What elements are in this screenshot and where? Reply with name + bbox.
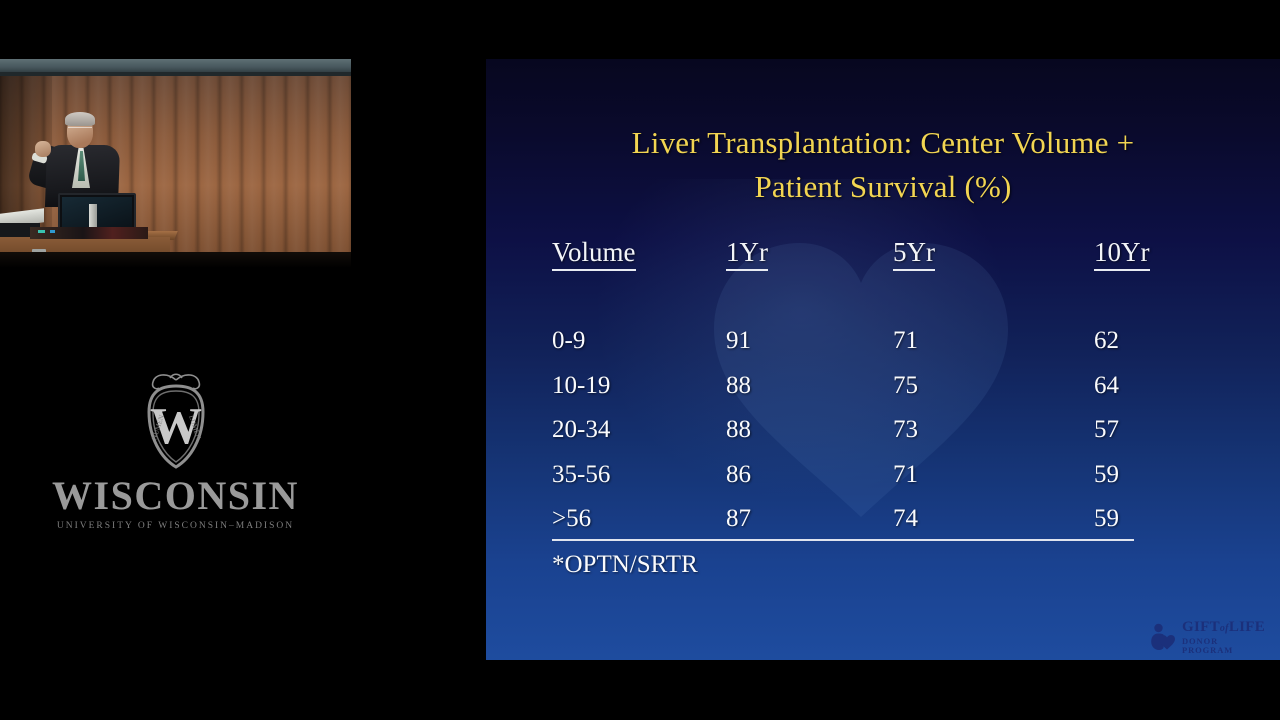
gift-of-life-logo: GIFTofLIFE DONOR PROGRAM: [1148, 619, 1270, 655]
cell-1yr: 88: [726, 416, 893, 444]
slide-canvas: Liver Transplantation: Center Volume + P…: [486, 59, 1280, 660]
cell-5yr: 74: [893, 505, 1094, 533]
table-row: >56 87 74 59: [552, 505, 1212, 550]
equipment-led-green: [38, 230, 45, 233]
gol-word-life: LIFE: [1229, 619, 1265, 635]
floor-shadow: [0, 252, 351, 268]
column-header-volume-label: Volume: [552, 237, 636, 271]
table-row: 0-9 91 71 62: [552, 327, 1212, 372]
cell-10yr: 59: [1094, 461, 1212, 489]
gift-of-life-line-1: GIFTofLIFE: [1182, 620, 1270, 635]
slide-title: Liver Transplantation: Center Volume + P…: [486, 121, 1280, 210]
column-header-10yr-label: 10Yr: [1094, 237, 1150, 271]
gol-word-gift: GIFT: [1182, 619, 1220, 635]
table-body: 0-9 91 71 62 10-19 88 75 64 20-34 88 73 …: [552, 327, 1212, 550]
cell-1yr: 86: [726, 461, 893, 489]
cell-1yr: 88: [726, 372, 893, 400]
cell-10yr: 57: [1094, 416, 1212, 444]
column-header-1yr: 1Yr: [726, 237, 893, 268]
podium-equipment: [30, 227, 148, 239]
wisconsin-subtitle: UNIVERSITY OF WISCONSIN–MADISON: [57, 521, 294, 531]
cell-volume: 20-34: [552, 416, 726, 444]
table-row: 10-19 88 75 64: [552, 372, 1212, 417]
ceiling-band: [0, 59, 351, 73]
gol-word-of: of: [1220, 623, 1229, 634]
cell-10yr: 62: [1094, 327, 1212, 355]
column-header-volume: Volume: [552, 237, 726, 268]
presentation-viewer: W NUMEN LUMEN WISCONSIN UNIVERSITY OF WI…: [0, 0, 1280, 720]
cell-1yr: 87: [726, 505, 893, 533]
column-header-10yr: 10Yr: [1094, 237, 1212, 268]
cell-volume: >56: [552, 505, 726, 533]
table-header-row: Volume 1Yr 5Yr 10Yr: [552, 237, 1212, 268]
table-row: 35-56 86 71 59: [552, 461, 1212, 506]
ceiling-lip: [0, 72, 351, 76]
column-header-1yr-label: 1Yr: [726, 237, 768, 271]
table-row: 20-34 88 73 57: [552, 416, 1212, 461]
cell-1yr: 91: [726, 327, 893, 355]
gift-of-life-figure-heart-icon: [1148, 622, 1178, 652]
gift-of-life-line-2: DONOR PROGRAM: [1182, 637, 1270, 654]
gift-of-life-wordmark: GIFTofLIFE DONOR PROGRAM: [1182, 620, 1270, 654]
cell-5yr: 73: [893, 416, 1094, 444]
cell-5yr: 71: [893, 327, 1094, 355]
survival-table: Volume 1Yr 5Yr 10Yr 0-9 91 71 62: [552, 237, 1212, 550]
speaker-video[interactable]: [0, 59, 351, 268]
wisconsin-wordmark: WISCONSIN: [52, 476, 299, 516]
speaker-hair: [65, 112, 95, 126]
wisconsin-crest-icon: W NUMEN LUMEN: [137, 370, 215, 472]
speaker-glasses: [68, 127, 92, 131]
cell-10yr: 59: [1094, 505, 1212, 533]
table-footnote: *OPTN/SRTR: [552, 551, 698, 579]
table-bottom-rule: [552, 539, 1134, 541]
cell-10yr: 64: [1094, 372, 1212, 400]
cell-5yr: 71: [893, 461, 1094, 489]
equipment-led-blue: [50, 230, 55, 233]
cell-volume: 10-19: [552, 372, 726, 400]
slide-title-line-2: Patient Survival (%): [486, 165, 1280, 209]
speaker-hand: [35, 141, 51, 157]
slide-title-line-1: Liver Transplantation: Center Volume +: [486, 121, 1280, 165]
cell-volume: 35-56: [552, 461, 726, 489]
column-header-5yr-label: 5Yr: [893, 237, 935, 271]
wisconsin-logo: W NUMEN LUMEN WISCONSIN UNIVERSITY OF WI…: [0, 370, 351, 540]
cell-volume: 0-9: [552, 327, 726, 355]
column-header-5yr: 5Yr: [893, 237, 1094, 268]
monitor-screen: [62, 197, 132, 229]
cell-5yr: 75: [893, 372, 1094, 400]
